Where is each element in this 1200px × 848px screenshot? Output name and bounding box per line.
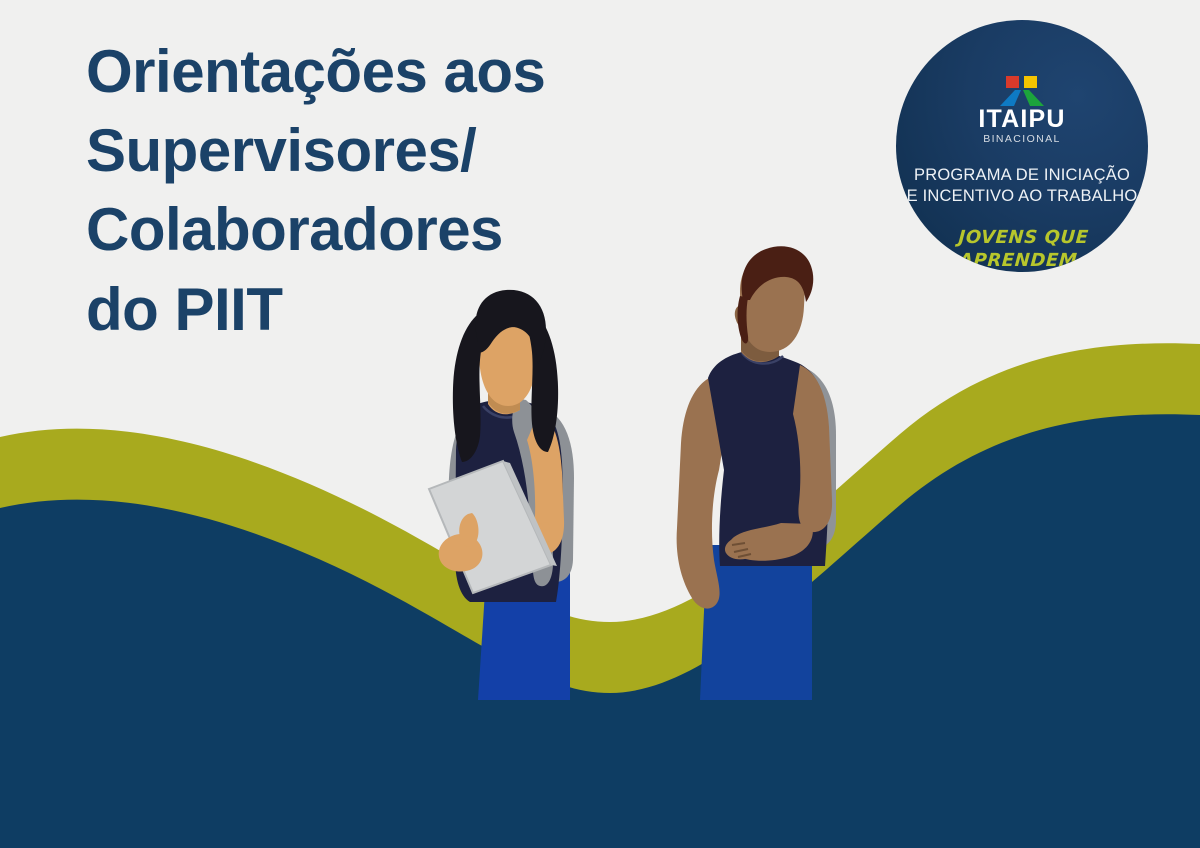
- male-right-arm: [793, 365, 832, 532]
- piit-program-badge: ITAIPU BINACIONAL PROGRAMA DE INICIAÇÃO …: [896, 20, 1148, 272]
- male-hand: [725, 536, 761, 559]
- female-shirt: [455, 400, 563, 602]
- male-neck: [741, 316, 779, 362]
- female-shirt-collar: [483, 406, 528, 418]
- female-student-figure: [429, 290, 574, 700]
- badge-tagline-line-1: JOVENS QUE APRENDEM,: [896, 226, 1148, 272]
- olive-wave-shape: [0, 343, 1200, 848]
- logo-square-red: [1006, 76, 1019, 88]
- male-shirt-collar: [742, 353, 783, 364]
- logo-trapezoid-green: [1023, 90, 1044, 106]
- female-notebook-edge: [503, 461, 557, 566]
- male-backpack-body: [797, 365, 836, 549]
- itaipu-wordmark: ITAIPU: [978, 107, 1065, 132]
- badge-program-name: PROGRAMA DE INICIAÇÃO E INCENTIVO AO TRA…: [907, 165, 1138, 207]
- navy-wave-shape: [0, 414, 1200, 848]
- itaipu-subwordmark: BINACIONAL: [983, 134, 1061, 145]
- female-jeans: [478, 560, 570, 700]
- female-backpack-strap-left: [449, 434, 468, 500]
- male-forearm: [729, 523, 813, 561]
- badge-program-line-1: PROGRAMA DE INICIAÇÃO: [907, 165, 1138, 186]
- male-hair: [742, 246, 814, 302]
- male-jeans: [700, 545, 812, 700]
- female-neck: [488, 372, 520, 414]
- itaipu-dam-icon: [993, 76, 1051, 106]
- male-student-figure: [677, 246, 836, 700]
- title-line-3: Colaboradores: [86, 190, 606, 269]
- female-right-arm: [527, 410, 564, 554]
- male-shirt: [708, 350, 829, 566]
- female-forearm: [447, 522, 549, 571]
- logo-trapezoid-blue: [1000, 90, 1021, 106]
- title-line-2: Supervisores/: [86, 111, 606, 190]
- title-line-4: do PIIT: [86, 270, 606, 349]
- logo-square-yellow: [1024, 76, 1037, 88]
- female-notebook: [429, 461, 551, 593]
- female-backpack-strap-right: [512, 399, 553, 586]
- itaipu-logo: ITAIPU BINACIONAL: [978, 76, 1065, 145]
- male-neck-shadow: [741, 322, 779, 361]
- title-line-1: Orientações aos: [86, 32, 606, 111]
- male-head: [740, 256, 805, 352]
- male-left-arm: [677, 378, 731, 609]
- male-hair-sideburn: [738, 296, 749, 343]
- page-title: Orientações aos Supervisores/ Colaborado…: [86, 32, 606, 349]
- female-backpack-body: [542, 408, 574, 582]
- male-hand-fingers: [732, 543, 751, 557]
- female-hand: [439, 534, 483, 571]
- female-neck-shadow: [488, 378, 520, 414]
- badge-program-line-2: E INCENTIVO AO TRABALHO: [907, 186, 1138, 207]
- female-thumb: [459, 513, 478, 547]
- slide-canvas: Orientações aos Supervisores/ Colaborado…: [0, 0, 1200, 848]
- male-ear: [735, 305, 745, 326]
- badge-tagline: JOVENS QUE APRENDEM, VIDAS QUE MUDAM.: [896, 226, 1148, 272]
